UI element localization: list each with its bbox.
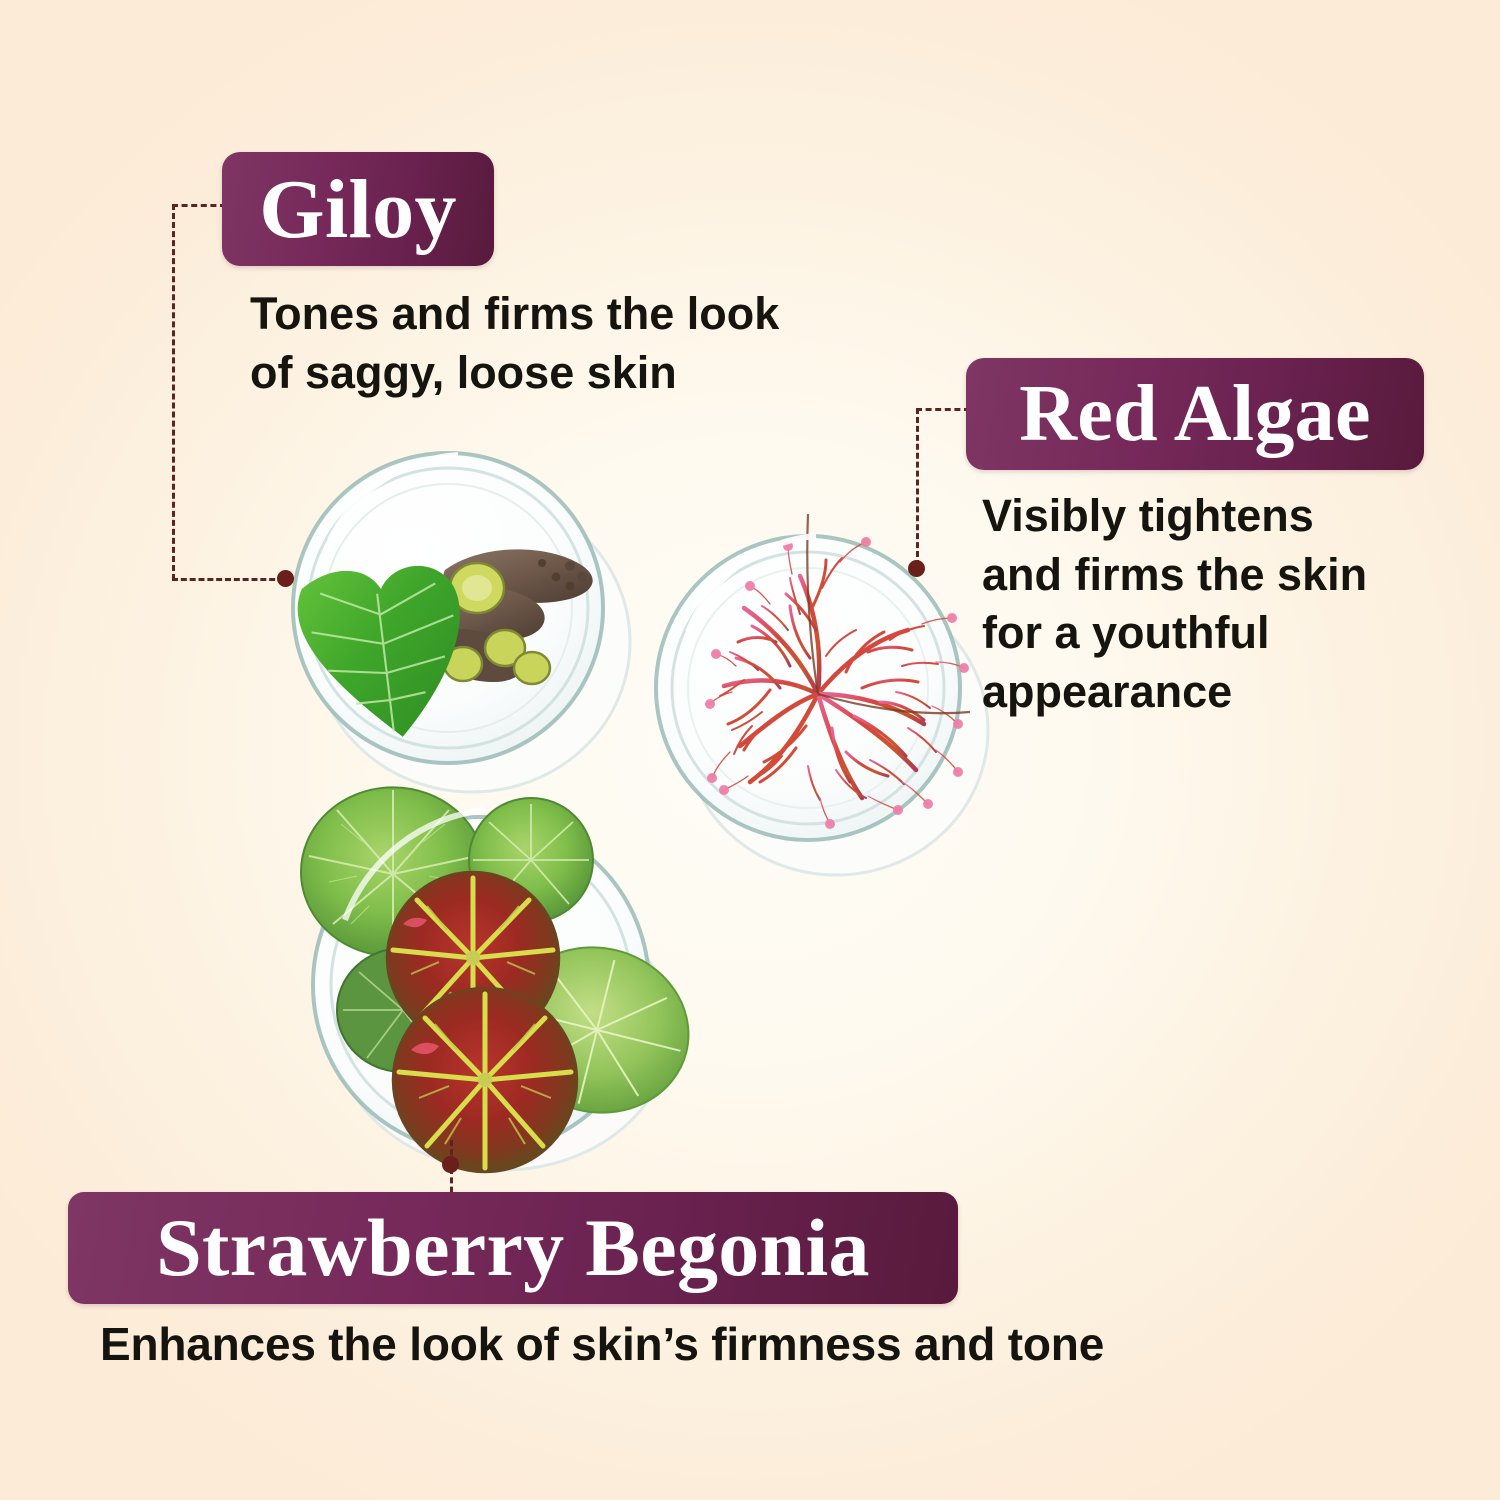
connector-red-algae-dot	[908, 560, 925, 577]
ingredient-badge-giloy[interactable]: Giloy	[222, 152, 494, 266]
connector-giloy-top-segment	[172, 204, 226, 207]
ingredient-badge-red-algae[interactable]: Red Algae	[966, 358, 1424, 470]
connector-giloy-bottom-segment	[172, 578, 284, 581]
connector-red-algae-vertical-segment	[916, 408, 919, 566]
infographic-canvas: Giloy Red Algae Strawberry Begonia Tones…	[0, 0, 1500, 1500]
petri-dish-strawberry-begonia	[285, 780, 705, 1180]
connector-giloy-dot	[277, 570, 294, 587]
connector-giloy-vertical-segment	[172, 204, 175, 580]
ingredient-badge-strawberry-begonia[interactable]: Strawberry Begonia	[68, 1192, 958, 1304]
ingredient-description-strawberry-begonia: Enhances the look of skin’s firmness and…	[100, 1315, 1180, 1375]
connector-red-algae-top-segment	[916, 408, 970, 411]
connector-begonia-dot	[442, 1156, 459, 1173]
ingredient-description-red-algae: Visibly tightens and firms the skin for …	[982, 487, 1452, 721]
ingredient-description-giloy: Tones and firms the look of saggy, loose…	[250, 285, 850, 402]
